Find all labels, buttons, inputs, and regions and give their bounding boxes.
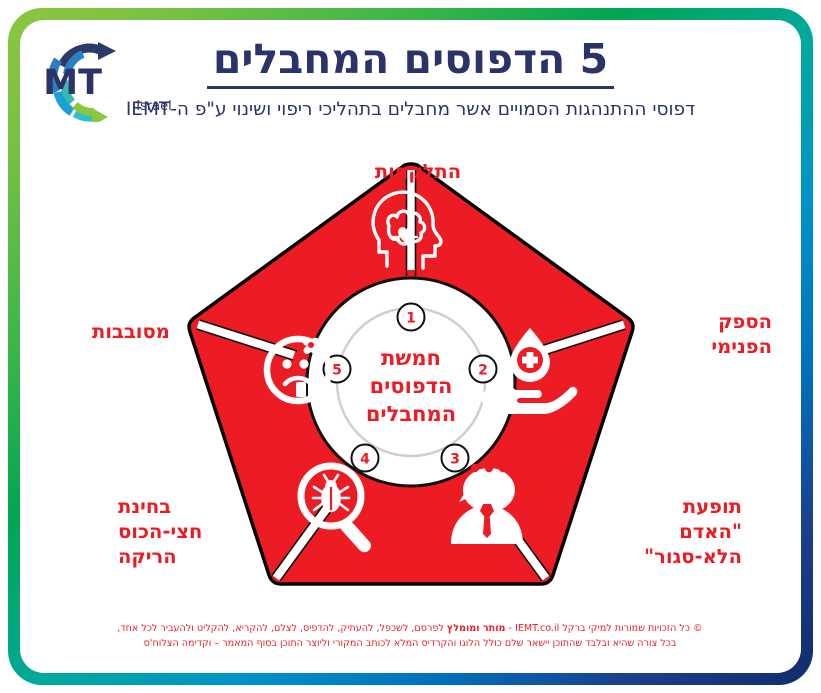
footer-line-2: בכל צורה שהיא ובלבד שהתוכן יישאר שלם כול… bbox=[60, 637, 760, 652]
center-label-line2: הדפוסים bbox=[370, 374, 453, 398]
segment-label-top: התלקחות bbox=[318, 160, 518, 185]
iemt-logo: IEMT Israel bbox=[42, 36, 192, 122]
footer-line-1: © כל הזכויות שמורות למיקי ברקל IEMT.co.i… bbox=[60, 622, 760, 637]
segment-badge-1-number: 1 bbox=[406, 311, 416, 327]
segment-badge-1[interactable]: 1 bbox=[398, 304, 425, 331]
footer-permissions-text: לפרסם, לשכפל, להעתיק, להדפיס, לצלם, להקר… bbox=[117, 623, 447, 634]
segment-badge-2-number: 2 bbox=[478, 363, 488, 379]
segment-badge-3[interactable]: 3 bbox=[442, 445, 469, 472]
center-label-line1: חמשת bbox=[381, 346, 441, 370]
segment-badge-5-number: 5 bbox=[332, 363, 342, 379]
footer-dash: - bbox=[505, 623, 515, 634]
footer-bold-phrase: מותר ומומלץ bbox=[447, 623, 506, 634]
segment-label-left: מסובבות bbox=[92, 320, 232, 345]
segment-badge-3-number: 3 bbox=[450, 452, 460, 468]
segment-badge-4-number: 4 bbox=[360, 452, 370, 468]
segment-label-right: הספק הפנימי bbox=[592, 310, 772, 360]
footer-copyright-text: © כל הזכויות שמורות למיקי ברקל bbox=[559, 623, 702, 634]
logo-tagline: Israel bbox=[136, 99, 172, 114]
segment-badge-4[interactable]: 4 bbox=[352, 445, 379, 472]
segment-label-bottom-left: בחינת חצי-הכוס הריקה bbox=[118, 495, 288, 570]
segment-badge-2[interactable]: 2 bbox=[470, 356, 497, 383]
logo-wordmark: IEMT bbox=[42, 63, 102, 103]
footer-site-link[interactable]: IEMT.co.il bbox=[515, 623, 559, 634]
footer-copyright: © כל הזכויות שמורות למיקי ברקל IEMT.co.i… bbox=[60, 622, 760, 652]
poster-canvas: IEMT Israel 5 הדפוסים המחבלים דפוסי ההתנ… bbox=[0, 0, 821, 693]
segment-label-bottom-right: תופעת "האדם הלא-סגור" bbox=[552, 495, 742, 570]
center-label-line3: המחבלים bbox=[366, 402, 456, 426]
